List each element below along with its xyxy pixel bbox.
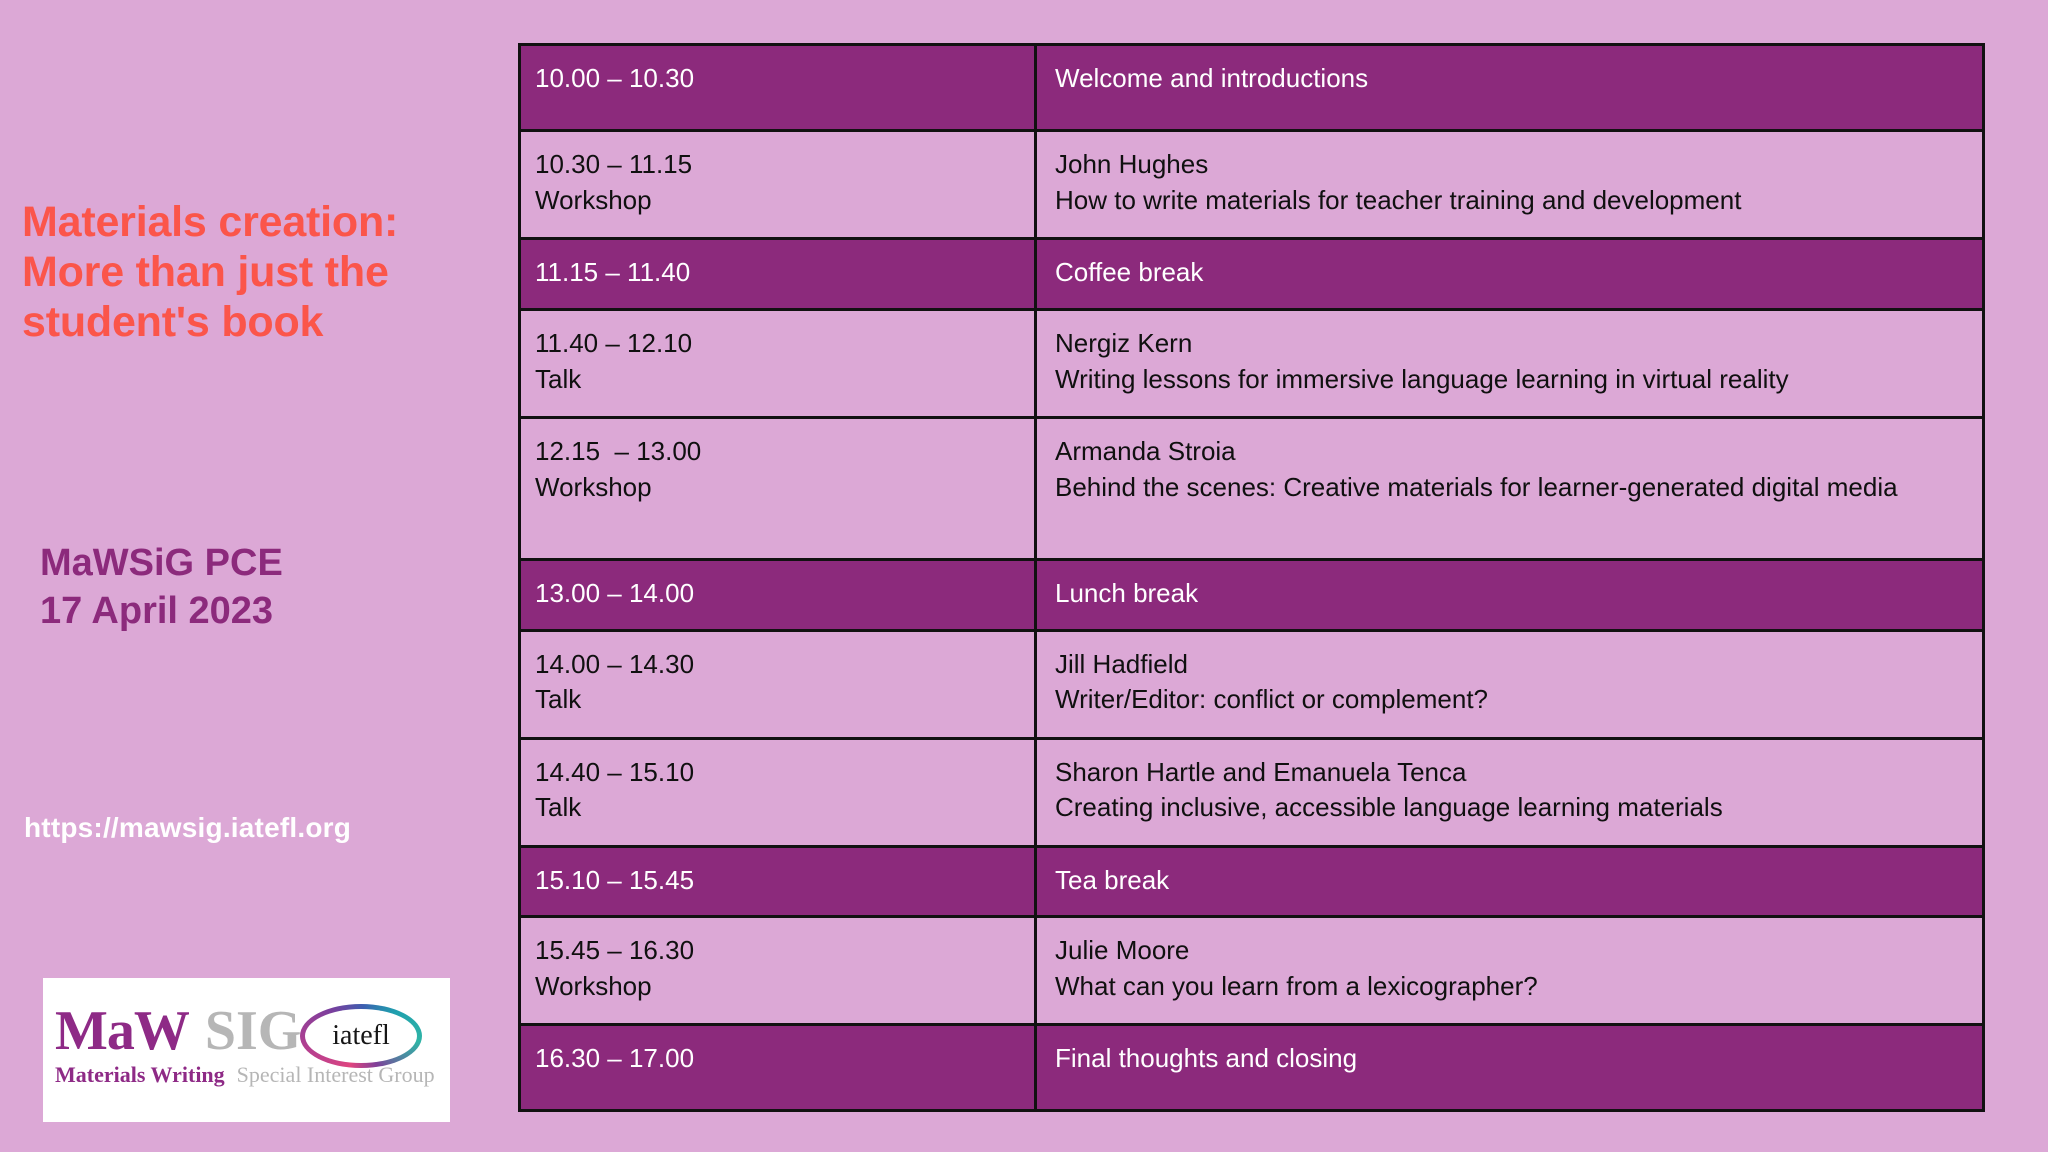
row-topic: Behind the scenes: Creative materials fo… [1055,471,1968,505]
row-time-cell: 14.00 – 14.30 Talk [520,630,1036,738]
row-time-cell: 10.00 – 10.30 [520,45,1036,131]
row-session-type: Workshop [535,184,1020,218]
left-info-panel: Materials creation: More than just the s… [0,0,518,1152]
logo-sig-subtitle: Special Interest Group [237,1064,435,1086]
row-detail-cell: Tea break [1036,846,1984,917]
table-row: 14.40 – 15.10 Talk Sharon Hartle and Ema… [520,738,1984,846]
logo-sig-text: SIG [205,1003,302,1059]
row-time-cell: 15.45 – 16.30 Workshop [520,917,1036,1025]
row-time: 11.15 – 11.40 [535,256,1020,290]
logo-subtitle-row: Materials Writing Special Interest Group [55,1064,435,1086]
row-time: 13.00 – 14.00 [535,577,1020,611]
row-speaker: Welcome and introductions [1055,62,1968,96]
iatefl-oval-icon: iatefl [300,1004,422,1068]
row-session-type: Talk [535,791,1020,825]
row-session-type: Talk [535,683,1020,717]
table-row: 11.15 – 11.40 Coffee break [520,239,1984,310]
row-topic: Creating inclusive, accessible language … [1055,791,1968,825]
row-time: 10.30 – 11.15 [535,148,1020,182]
table-row: 12.15 – 13.00 Workshop Armanda Stroia Be… [520,417,1984,559]
row-session-type: Workshop [535,970,1020,1004]
row-topic: What can you learn from a lexicographer? [1055,970,1968,1004]
row-detail-cell: Coffee break [1036,239,1984,310]
row-time: 15.10 – 15.45 [535,864,1020,898]
row-detail-cell: Final thoughts and closing [1036,1025,1984,1111]
row-speaker: Nergiz Kern [1055,327,1968,361]
table-row: 11.40 – 12.10 Talk Nergiz Kern Writing l… [520,309,1984,417]
logo-wordmark-row: MaW SIG [55,1000,301,1062]
row-detail-cell: Lunch break [1036,559,1984,630]
table-row: 13.00 – 14.00 Lunch break [520,559,1984,630]
schedule-table: 10.00 – 10.30 Welcome and introductions … [518,43,1985,1112]
table-row: 15.10 – 15.45 Tea break [520,846,1984,917]
logo-inner: MaW SIG Materials Writing Special Intere… [55,1000,440,1102]
row-speaker: John Hughes [1055,148,1968,182]
row-speaker: Lunch break [1055,577,1968,611]
row-time-cell: 12.15 – 13.00 Workshop [520,417,1036,559]
row-time-cell: 15.10 – 15.45 [520,846,1036,917]
row-detail-cell: Nergiz Kern Writing lessons for immersiv… [1036,309,1984,417]
row-time-cell: 16.30 – 17.00 [520,1025,1036,1111]
row-time: 14.40 – 15.10 [535,756,1020,790]
row-time: 15.45 – 16.30 [535,934,1020,968]
row-detail-cell: Armanda Stroia Behind the scenes: Creati… [1036,417,1984,559]
table-row: 16.30 – 17.00 Final thoughts and closing [520,1025,1984,1111]
event-name-and-date: MaWSiG PCE 17 April 2023 [40,540,500,635]
row-detail-cell: John Hughes How to write materials for t… [1036,131,1984,239]
logo-maw-subtitle: Materials Writing [55,1064,225,1086]
table-row: 10.30 – 11.15 Workshop John Hughes How t… [520,131,1984,239]
row-speaker: Jill Hadfield [1055,648,1968,682]
row-time-cell: 11.40 – 12.10 Talk [520,309,1036,417]
row-time: 12.15 – 13.00 [535,435,1020,469]
row-topic: How to write materials for teacher train… [1055,184,1968,218]
row-session-type: Workshop [535,471,1020,505]
table-row: 14.00 – 14.30 Talk Jill Hadfield Writer/… [520,630,1984,738]
row-speaker: Tea break [1055,864,1968,898]
row-detail-cell: Julie Moore What can you learn from a le… [1036,917,1984,1025]
row-topic: Writing lessons for immersive language l… [1055,363,1968,397]
table-row: 10.00 – 10.30 Welcome and introductions [520,45,1984,131]
row-speaker: Sharon Hartle and Emanuela Tenca [1055,756,1968,790]
row-topic: Writer/Editor: conflict or complement? [1055,683,1968,717]
table-row: 15.45 – 16.30 Workshop Julie Moore What … [520,917,1984,1025]
row-time-cell: 10.30 – 11.15 Workshop [520,131,1036,239]
row-time: 11.40 – 12.10 [535,327,1020,361]
row-detail-cell: Sharon Hartle and Emanuela Tenca Creatin… [1036,738,1984,846]
iatefl-label: iatefl [332,1022,390,1050]
row-time: 14.00 – 14.30 [535,648,1020,682]
mawsig-logo: MaW SIG Materials Writing Special Intere… [43,978,450,1122]
schedule-table-body: 10.00 – 10.30 Welcome and introductions … [520,45,1984,1111]
website-url[interactable]: https://mawsig.iatefl.org [24,812,351,844]
row-speaker: Coffee break [1055,256,1968,290]
row-time-cell: 13.00 – 14.00 [520,559,1036,630]
row-speaker: Julie Moore [1055,934,1968,968]
row-detail-cell: Jill Hadfield Writer/Editor: conflict or… [1036,630,1984,738]
row-detail-cell: Welcome and introductions [1036,45,1984,131]
page-title: Materials creation: More than just the s… [22,198,502,348]
row-time-cell: 11.15 – 11.40 [520,239,1036,310]
row-time: 10.00 – 10.30 [535,62,1020,96]
row-time: 16.30 – 17.00 [535,1042,1020,1076]
row-speaker: Final thoughts and closing [1055,1042,1968,1076]
row-speaker: Armanda Stroia [1055,435,1968,469]
row-session-type: Talk [535,363,1020,397]
row-time-cell: 14.40 – 15.10 Talk [520,738,1036,846]
logo-maw-text: MaW [55,1003,189,1059]
